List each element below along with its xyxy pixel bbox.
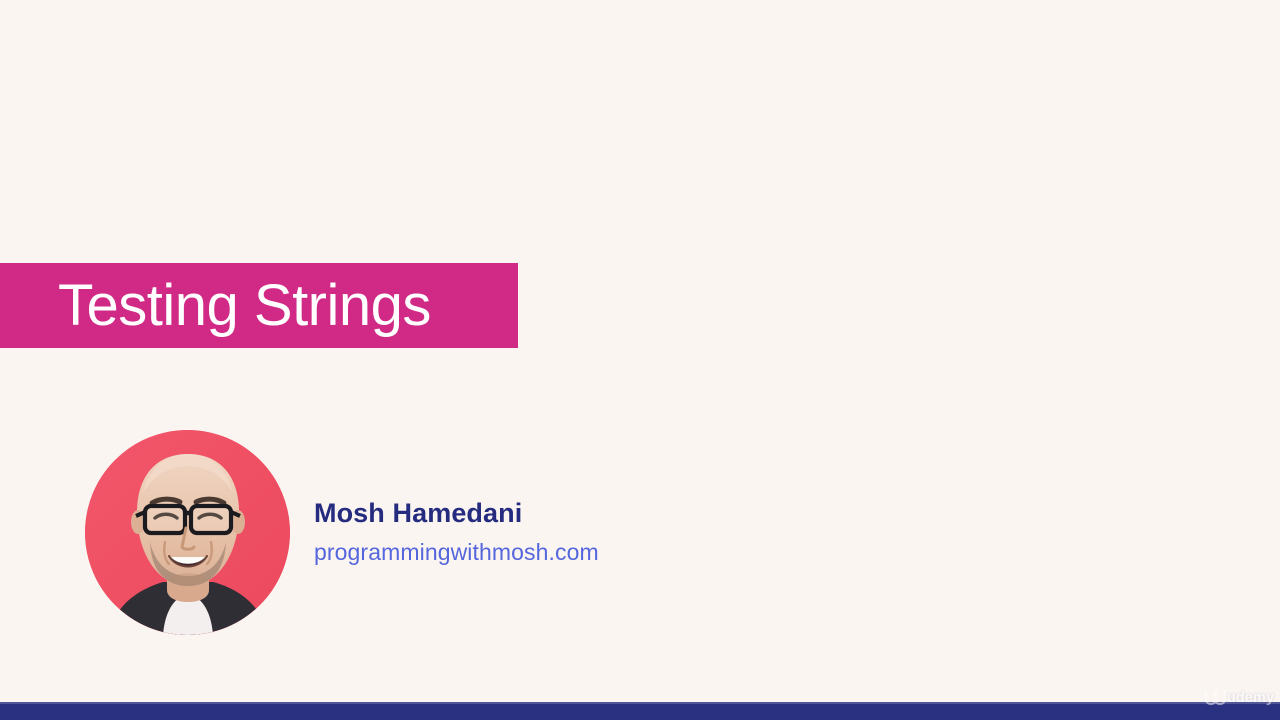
bottom-bar-highlight	[0, 702, 1280, 704]
presenter-name: Mosh Hamedani	[314, 496, 599, 531]
slide-canvas: Testing Strings	[0, 0, 1280, 720]
presenter-block: Mosh Hamedani programmingwithmosh.com	[85, 430, 599, 635]
bottom-bar	[0, 702, 1280, 720]
slide-title: Testing Strings	[58, 277, 431, 335]
presenter-website: programmingwithmosh.com	[314, 536, 599, 568]
avatar	[85, 430, 290, 635]
presenter-info: Mosh Hamedani programmingwithmosh.com	[314, 496, 599, 568]
title-banner: Testing Strings	[0, 263, 518, 348]
